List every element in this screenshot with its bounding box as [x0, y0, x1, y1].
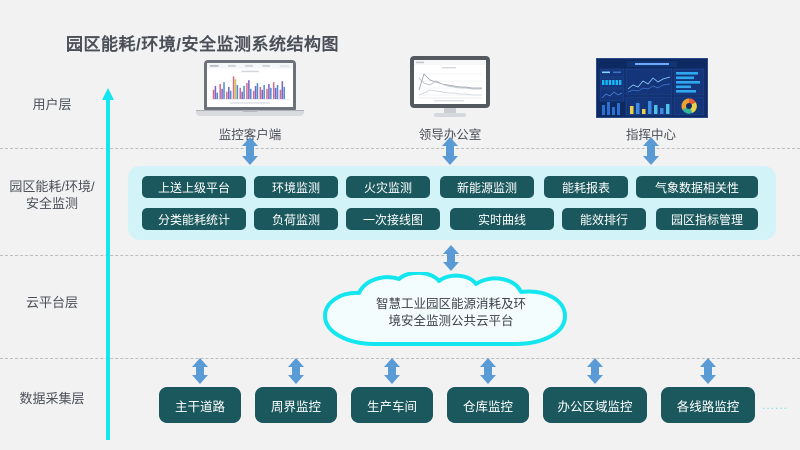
- bar-chart-icon: [207, 63, 293, 107]
- feature-tag-environment-monitor[interactable]: 环境监测: [254, 176, 338, 198]
- arrow-perimeter: [288, 358, 304, 384]
- arrow-trunk-road: [192, 358, 208, 384]
- layer-label-monitor: 园区能耗/环境/安全监测: [6, 178, 98, 212]
- feature-tag-efficiency-ranking[interactable]: 能效排行: [562, 208, 646, 230]
- device-leader-office: [410, 56, 490, 118]
- feature-tag-fire-monitor[interactable]: 火灾监测: [346, 176, 430, 198]
- laptop-screen: [207, 63, 293, 107]
- collection-box-warehouse[interactable]: 仓库监控: [447, 387, 529, 423]
- collection-box-lines[interactable]: 各线路监控: [661, 387, 755, 423]
- device-monitoring-client: [196, 60, 304, 118]
- arrow-office-area: [587, 358, 603, 384]
- layer-divider-2: [0, 255, 800, 256]
- diagram-canvas: 园区能耗/环境/安全监测系统结构图 用户层 园区能耗/环境/安全监测 云平台层 …: [0, 0, 800, 450]
- layer-label-collection: 数据采集层: [6, 390, 98, 407]
- laptop-notch-icon: [242, 110, 258, 112]
- collection-box-workshop[interactable]: 生产车间: [351, 387, 433, 423]
- laptop-lid-icon: [204, 60, 296, 110]
- feature-tag-realtime-curve[interactable]: 实时曲线: [450, 208, 554, 230]
- feature-panel: 上送上级平台 环境监测 火灾监测 新能源监测 能耗报表 气象数据相关性 分类能耗…: [128, 166, 776, 240]
- arrow-warehouse: [480, 358, 496, 384]
- cloud-platform: 智慧工业园区能源消耗及环 境安全监测公共云平台: [313, 272, 589, 348]
- layer-divider-1: [0, 148, 800, 149]
- cloud-label-line2: 境安全监测公共云平台: [313, 313, 589, 330]
- device-command-center: [596, 58, 706, 118]
- command-center-screen: [596, 58, 708, 118]
- layer-label-cloud: 云平台层: [6, 294, 98, 311]
- feature-tag-category-energy-stats[interactable]: 分类能耗统计: [142, 208, 246, 230]
- cloud-label-line1: 智慧工业园区能源消耗及环: [313, 296, 589, 313]
- feature-tag-energy-report[interactable]: 能耗报表: [544, 176, 628, 198]
- dashboard-icon: [597, 59, 707, 117]
- monitor-foot-icon: [434, 113, 466, 117]
- page-title: 园区能耗/环境/安全监测系统结构图: [66, 30, 339, 55]
- feature-tag-park-index-management[interactable]: 园区指标管理: [656, 208, 758, 230]
- layer-divider-3: [0, 358, 800, 359]
- monitor-screen: [414, 60, 486, 104]
- line-chart-icon: [414, 60, 486, 104]
- cloud-label: 智慧工业园区能源消耗及环 境安全监测公共云平台: [313, 296, 589, 330]
- arrow-leader-office: [442, 137, 458, 165]
- layer-label-user: 用户层: [6, 96, 98, 113]
- feature-tag-load-monitor[interactable]: 负荷监测: [254, 208, 338, 230]
- monitor-bezel-icon: [410, 56, 490, 108]
- collection-box-trunk-road[interactable]: 主干道路: [159, 387, 241, 423]
- feature-tag-new-energy-monitor[interactable]: 新能源监测: [440, 176, 534, 198]
- collection-box-office-area[interactable]: 办公区域监控: [543, 387, 647, 423]
- collection-box-perimeter[interactable]: 周界监控: [255, 387, 337, 423]
- feature-tag-single-line-diagram[interactable]: 一次接线图: [346, 208, 440, 230]
- arrow-command-center: [643, 137, 659, 165]
- collection-ellipsis: ......: [762, 398, 788, 412]
- arrow-workshop: [384, 358, 400, 384]
- layer-axis-arrow-icon: [101, 88, 115, 440]
- feature-tag-upload-platform[interactable]: 上送上级平台: [142, 176, 246, 198]
- arrow-feature-cloud: [443, 245, 459, 271]
- arrow-monitoring-client: [242, 137, 258, 165]
- feature-tag-weather-correlation[interactable]: 气象数据相关性: [636, 176, 758, 198]
- arrow-lines: [700, 358, 716, 384]
